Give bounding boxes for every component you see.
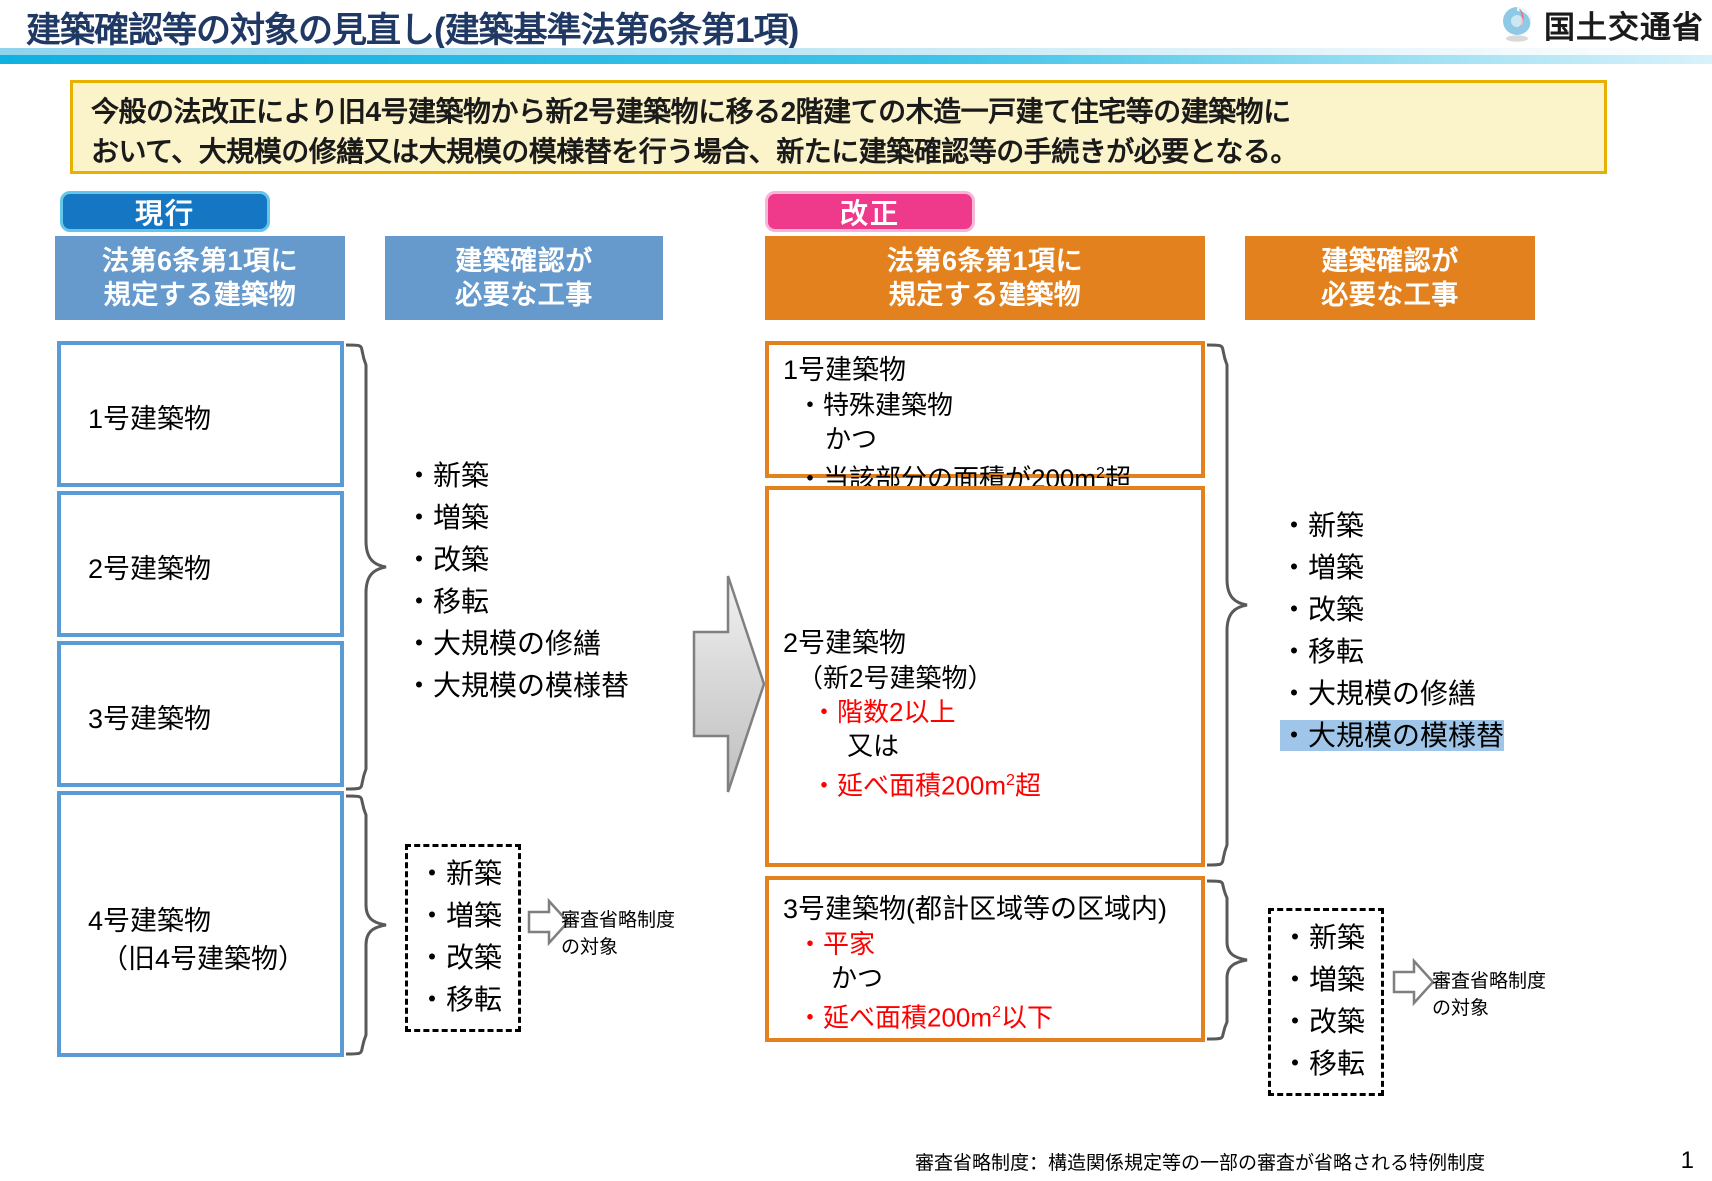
current-work-item: ・新築 (405, 455, 629, 497)
current-exempt-work-item: ・増築 (418, 895, 504, 937)
current-exempt-work-item: ・新築 (418, 853, 504, 895)
header-revised-buildings: 法第6条第1項に 規定する建築物 (765, 236, 1205, 320)
revised-box2-cond2-sup: 2 (1006, 771, 1015, 789)
header-current-works-line2: 必要な工事 (455, 278, 593, 312)
footnote: 審査省略制度：構造関係規定等の一部の審査が省略される特例制度 (915, 1148, 1485, 1175)
header-revised-buildings-line1: 法第6条第1項に (887, 244, 1083, 278)
current-exempt-works-list: ・新築 ・増築 ・改築 ・移転 (405, 844, 521, 1032)
slide-root: 建築確認等の対象の見直し(建築基準法第6条第1項) 国土交通省 今般の法改正によ… (0, 0, 1712, 1181)
current-building-label-1: 1号建築物 (88, 397, 211, 436)
revised-box3-cond2-post: 以下 (1001, 1003, 1053, 1033)
revised-exempt-work-item: ・増築 (1281, 959, 1367, 1001)
revised-box3-cond2-pre: ・延べ面積200m (797, 1003, 992, 1033)
revised-box3-cond2-sup: 2 (992, 1003, 1001, 1021)
revised-exempt-work-item: ・改築 (1281, 1001, 1367, 1043)
revised-box3-cond2: ・延べ面積200m2以下 (783, 995, 1201, 1035)
revised-exempt-work-item: ・新築 (1281, 917, 1367, 959)
badge-current: 現行 (60, 191, 270, 232)
current-exempt-note: 審査省略制度 の対象 (561, 907, 675, 961)
brace-revised-lower (1205, 878, 1269, 1044)
revised-exempt-works-list: ・新築 ・増築 ・改築 ・移転 (1268, 908, 1384, 1096)
current-works-list: ・新築 ・増築 ・改築 ・移転 ・大規模の修繕 ・大規模の模様替 (405, 455, 629, 707)
header-current-buildings-line1: 法第6条第1項に (102, 244, 298, 278)
header-current-works-line1: 建築確認が (455, 244, 593, 278)
revised-box2-cond2-pre: ・延べ面積200m (811, 771, 1006, 801)
revised-exempt-note-line2: の対象 (1432, 995, 1546, 1022)
lead-line-2: おいて、大規模の修繕又は大規模の模様替を行う場合、新たに建築確認等の手続きが必要… (91, 132, 1586, 172)
page-title: 建築確認等の対象の見直し(建築基準法第6条第1項) (26, 2, 798, 53)
current-exempt-note-line1: 審査省略制度 (561, 907, 675, 934)
page-number: 1 (1681, 1147, 1694, 1175)
header-current-buildings-line2: 規定する建築物 (104, 278, 297, 312)
current-exempt-note-line2: の対象 (561, 934, 675, 961)
current-work-item: ・移転 (405, 581, 629, 623)
current-work-item: ・改築 (405, 539, 629, 581)
current-building-box-3: 3号建築物 (57, 641, 344, 787)
ministry-swirl-logo-icon (1498, 6, 1536, 44)
current-building-label-4: 4号建築物 (88, 899, 211, 938)
revised-building-label-3: 3号建築物(都計区域等の区域内) (783, 892, 1201, 927)
arrow-right-icon-revised (1392, 958, 1436, 1008)
revised-exempt-note-line1: 審査省略制度 (1432, 968, 1546, 995)
current-building-box-4: 4号建築物 （旧4号建築物） (57, 791, 344, 1057)
brace-current-lower (344, 793, 408, 1057)
revised-box1-cond2-sup: 2 (1096, 464, 1105, 482)
current-exempt-work-item: ・移転 (418, 979, 504, 1021)
revised-box2-conj: 又は (783, 729, 1041, 763)
revised-box1-conj: かつ (783, 422, 1201, 456)
revised-building-box-2: 2号建築物 （新2号建築物） ・階数2以上 又は ・延べ面積200m2超 (765, 486, 1205, 867)
current-work-item: ・大規模の修繕 (405, 623, 629, 665)
current-work-item: ・大規模の模様替 (405, 665, 629, 707)
current-building-box-2: 2号建築物 (57, 491, 344, 637)
revised-building-box-3: 3号建築物(都計区域等の区域内) ・平家 かつ ・延べ面積200m2以下 (765, 876, 1205, 1042)
revised-work-highlight: ・大規模の模様替 (1280, 720, 1504, 751)
revised-building-box-1: 1号建築物 ・特殊建築物 かつ ・当該部分の面積が200m2超 (765, 341, 1205, 478)
revised-box3-cond1: ・平家 (783, 927, 1201, 961)
revised-box2-cond1: ・階数2以上 (783, 695, 1041, 729)
lead-callout-box: 今般の法改正により旧4号建築物から新2号建築物に移る2階建ての木造一戸建て住宅等… (70, 80, 1607, 174)
revised-works-list: ・新築 ・増築 ・改築 ・移転 ・大規模の修繕 ・大規模の模様替 (1280, 505, 1504, 757)
revised-box2-cond2-post: 超 (1015, 771, 1041, 801)
revised-work-item: ・増築 (1280, 547, 1504, 589)
revised-box2-cond2: ・延べ面積200m2超 (783, 763, 1041, 803)
transition-arrow-icon (690, 570, 768, 800)
revised-work-item: ・改築 (1280, 589, 1504, 631)
current-building-sublabel-4: （旧4号建築物） (101, 937, 305, 976)
revised-box3-conj: かつ (783, 961, 1201, 995)
brace-current-upper (344, 341, 408, 791)
header-rule-accent (0, 55, 1712, 64)
revised-work-item: ・新築 (1280, 505, 1504, 547)
header-revised-buildings-line2: 規定する建築物 (889, 278, 1082, 312)
badge-revised: 改正 (765, 191, 975, 232)
header-current-works: 建築確認が 必要な工事 (385, 236, 663, 320)
ministry-name: 国土交通省 (1544, 2, 1704, 47)
revised-exempt-work-item: ・移転 (1281, 1043, 1367, 1085)
revised-box1-cond1: ・特殊建築物 (783, 388, 1201, 422)
revised-exempt-note: 審査省略制度 の対象 (1432, 968, 1546, 1022)
current-building-label-2: 2号建築物 (88, 547, 211, 586)
current-building-label-3: 3号建築物 (88, 697, 211, 736)
revised-box2-sub: （新2号建築物） (783, 661, 1041, 695)
header-current-buildings: 法第6条第1項に 規定する建築物 (55, 236, 345, 320)
header-revised-works-line2: 必要な工事 (1321, 278, 1459, 312)
revised-work-item: ・移転 (1280, 631, 1504, 673)
header-revised-works-line1: 建築確認が (1321, 244, 1459, 278)
revised-building-label-1: 1号建築物 (783, 353, 1201, 388)
revised-box2-content: 2号建築物 （新2号建築物） ・階数2以上 又は ・延べ面積200m2超 (783, 626, 1041, 803)
current-exempt-work-item: ・改築 (418, 937, 504, 979)
revised-work-item: ・大規模の修繕 (1280, 673, 1504, 715)
header-revised-works: 建築確認が 必要な工事 (1245, 236, 1535, 320)
brace-revised-upper (1205, 341, 1269, 867)
header-rule-light (0, 48, 1712, 55)
revised-work-item-highlighted: ・大規模の模様替 (1280, 715, 1504, 757)
ministry-logo: 国土交通省 (1498, 2, 1704, 47)
lead-line-1: 今般の法改正により旧4号建築物から新2号建築物に移る2階建ての木造一戸建て住宅等… (91, 92, 1586, 132)
current-work-item: ・増築 (405, 497, 629, 539)
current-building-box-1: 1号建築物 (57, 341, 344, 487)
revised-building-label-2: 2号建築物 (783, 626, 1041, 661)
